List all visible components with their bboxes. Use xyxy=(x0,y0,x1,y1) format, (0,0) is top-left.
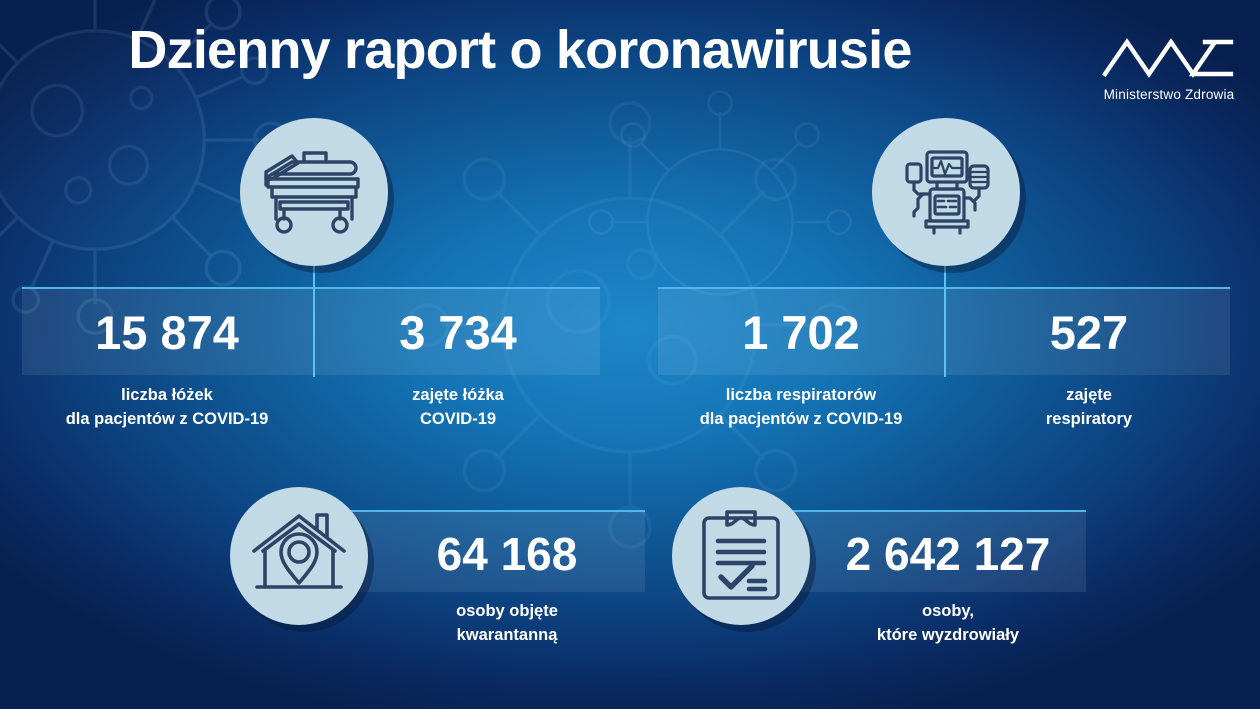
stat-caption-beds-total: liczba łóżek dla pacjentów z COVID-19 xyxy=(22,384,312,432)
stat-caption-ventilators-occupied: zajęte respiratory xyxy=(948,384,1230,432)
caption-line-2: COVID-19 xyxy=(316,408,600,432)
stat-caption-quarantine: osoby objęte kwarantanną xyxy=(372,600,642,648)
caption-line-2: które wyzdrowiały xyxy=(812,624,1084,648)
ventilator-circle xyxy=(872,118,1020,266)
ventilator-icon xyxy=(896,142,996,242)
page-title: Dzienny raport o koronawirusie xyxy=(0,22,1040,79)
stat-value-ventilators-total: 1 702 xyxy=(658,305,944,360)
caption-line-1: zajęte xyxy=(948,384,1230,408)
caption-line-1: liczba łóżek xyxy=(22,384,312,408)
caption-line-1: osoby, xyxy=(812,600,1084,624)
infographic-canvas: Dzienny raport o koronawirusie Ministers… xyxy=(0,0,1260,709)
mz-zigzag-logo-icon xyxy=(1101,30,1237,82)
hospital-bed-circle xyxy=(240,118,388,266)
caption-line-2: respiratory xyxy=(948,408,1230,432)
caption-line-2: dla pacjentów z COVID-19 xyxy=(22,408,312,432)
connector-ventilators xyxy=(944,262,946,377)
stat-caption-recovered: osoby, które wyzdrowiały xyxy=(812,600,1084,648)
caption-line-2: kwarantanną xyxy=(372,624,642,648)
ministry-logo: Ministerstwo Zdrowia xyxy=(1094,30,1244,102)
quarantine-circle xyxy=(230,487,368,625)
stat-value-quarantine: 64 168 xyxy=(372,527,642,581)
hospital-bed-icon xyxy=(262,149,366,235)
stat-value-ventilators-occupied: 527 xyxy=(948,305,1230,360)
stat-value-recovered: 2 642 127 xyxy=(812,527,1084,581)
clipboard-check-icon xyxy=(699,509,783,603)
stat-value-beds-occupied: 3 734 xyxy=(316,305,600,360)
logo-text: Ministerstwo Zdrowia xyxy=(1094,87,1244,102)
stat-caption-ventilators-total: liczba respiratorów dla pacjentów z COVI… xyxy=(658,384,944,432)
stat-value-beds-total: 15 874 xyxy=(22,305,312,360)
caption-line-1: liczba respiratorów xyxy=(658,384,944,408)
house-pin-icon xyxy=(251,511,347,601)
caption-line-1: zajęte łóżka xyxy=(316,384,600,408)
caption-line-1: osoby objęte xyxy=(372,600,642,624)
connector-beds xyxy=(313,262,315,377)
recovered-circle xyxy=(672,487,810,625)
stat-caption-beds-occupied: zajęte łóżka COVID-19 xyxy=(316,384,600,432)
caption-line-2: dla pacjentów z COVID-19 xyxy=(658,408,944,432)
